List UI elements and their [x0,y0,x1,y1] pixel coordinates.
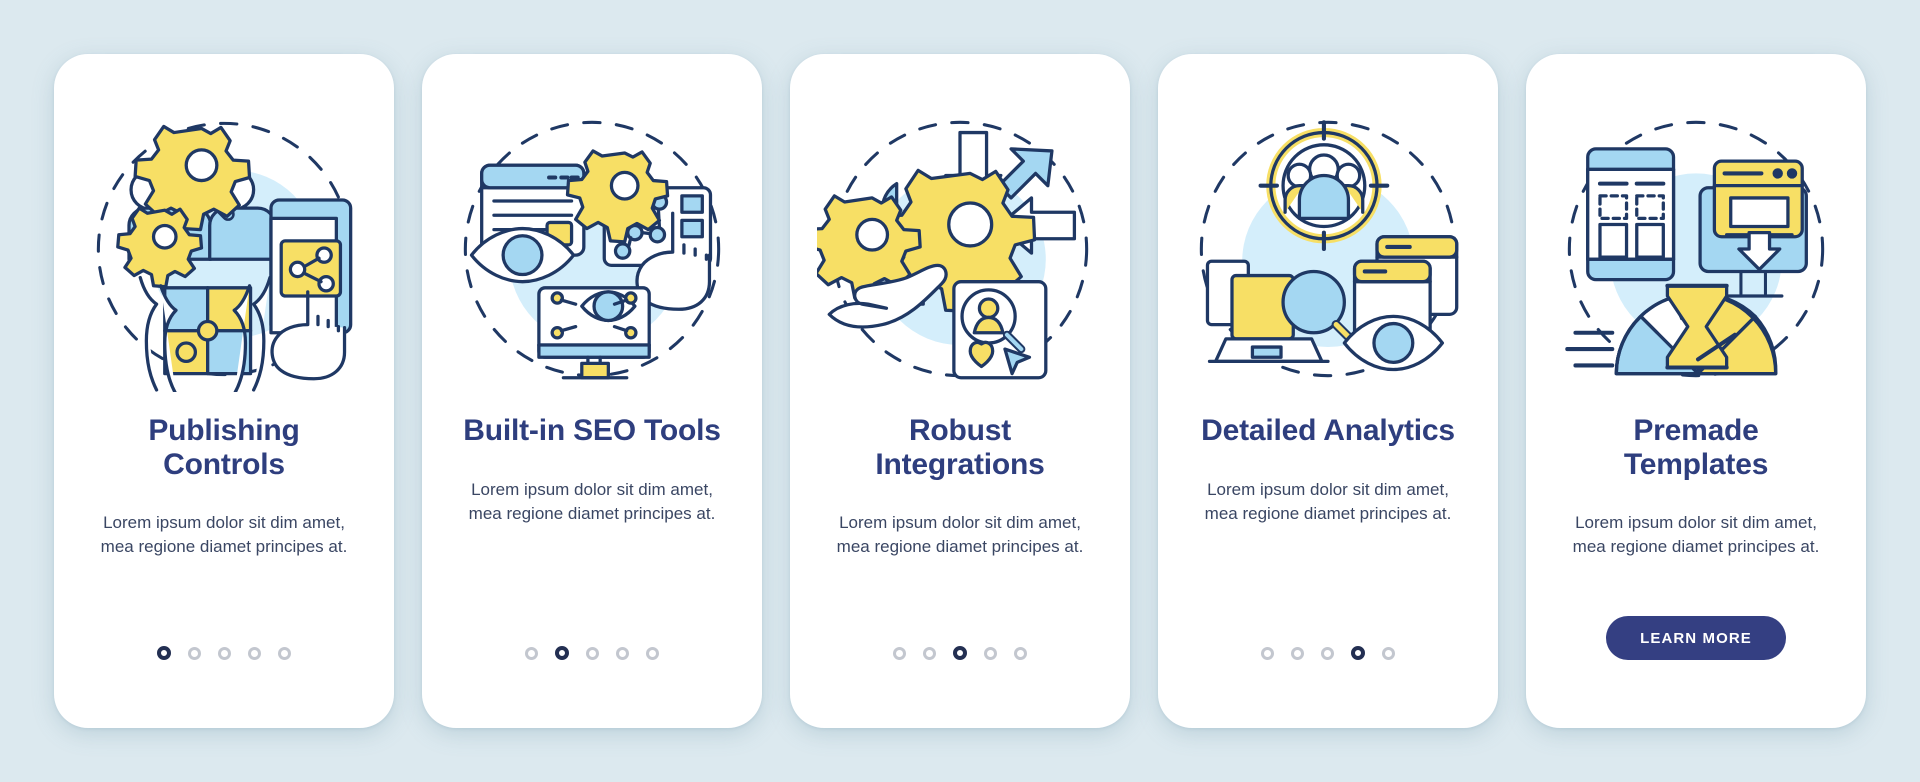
pagination-dot[interactable] [953,646,967,660]
pagination-dot[interactable] [188,647,201,660]
seo-tools-illustration [449,106,735,392]
onboarding-screen-seo-tools: Built-in SEO Tools Lorem ipsum dolor sit… [422,54,762,728]
pagination-dot[interactable] [923,647,936,660]
pagination-dot[interactable] [646,647,659,660]
pagination-dot[interactable] [278,647,291,660]
pagination-dot[interactable] [1291,647,1304,660]
screen-body-text: Lorem ipsum dolor sit dim amet, mea regi… [468,478,716,526]
screen-body-text: Lorem ipsum dolor sit dim amet, mea regi… [836,511,1084,559]
premade-templates-illustration [1553,106,1839,392]
screen-title: Detailed Analytics [1201,414,1455,448]
onboarding-screen-robust-integrations: Robust Integrations Lorem ipsum dolor si… [790,54,1130,728]
screen-body-text: Lorem ipsum dolor sit dim amet, mea regi… [1204,478,1452,526]
onboarding-screens-row: Publishing Controls Lorem ipsum dolor si… [0,0,1920,782]
pagination-dot[interactable] [157,646,171,660]
pagination-dots[interactable] [157,646,291,660]
learn-more-button[interactable]: LEARN MORE [1606,616,1786,660]
pagination-dot[interactable] [525,647,538,660]
screen-title: Premade Templates [1561,414,1831,481]
pagination-dots[interactable] [525,646,659,660]
onboarding-screen-premade-templates: Premade Templates Lorem ipsum dolor sit … [1526,54,1866,728]
pagination-dot[interactable] [1351,646,1365,660]
pagination-dot[interactable] [555,646,569,660]
pagination-dot[interactable] [1261,647,1274,660]
pagination-dot[interactable] [1014,647,1027,660]
onboarding-screen-detailed-analytics: Detailed Analytics Lorem ipsum dolor sit… [1158,54,1498,728]
screen-body-text: Lorem ipsum dolor sit dim amet, mea regi… [100,511,348,559]
pagination-dot[interactable] [616,647,629,660]
screen-body-text: Lorem ipsum dolor sit dim amet, mea regi… [1572,511,1820,559]
pagination-dot[interactable] [984,647,997,660]
pagination-dot[interactable] [893,647,906,660]
screen-title: Publishing Controls [89,414,359,481]
pagination-dot[interactable] [586,647,599,660]
pagination-dot[interactable] [248,647,261,660]
onboarding-screen-publishing-controls: Publishing Controls Lorem ipsum dolor si… [54,54,394,728]
screen-title: Built-in SEO Tools [463,414,721,448]
pagination-dots[interactable] [1261,646,1395,660]
pagination-dot[interactable] [218,647,231,660]
screen-title: Robust Integrations [825,414,1095,481]
robust-integrations-illustration [817,106,1103,392]
pagination-dot[interactable] [1382,647,1395,660]
pagination-dot[interactable] [1321,647,1334,660]
publishing-controls-illustration [81,106,367,392]
pagination-dots[interactable] [893,646,1027,660]
detailed-analytics-illustration [1185,106,1471,392]
